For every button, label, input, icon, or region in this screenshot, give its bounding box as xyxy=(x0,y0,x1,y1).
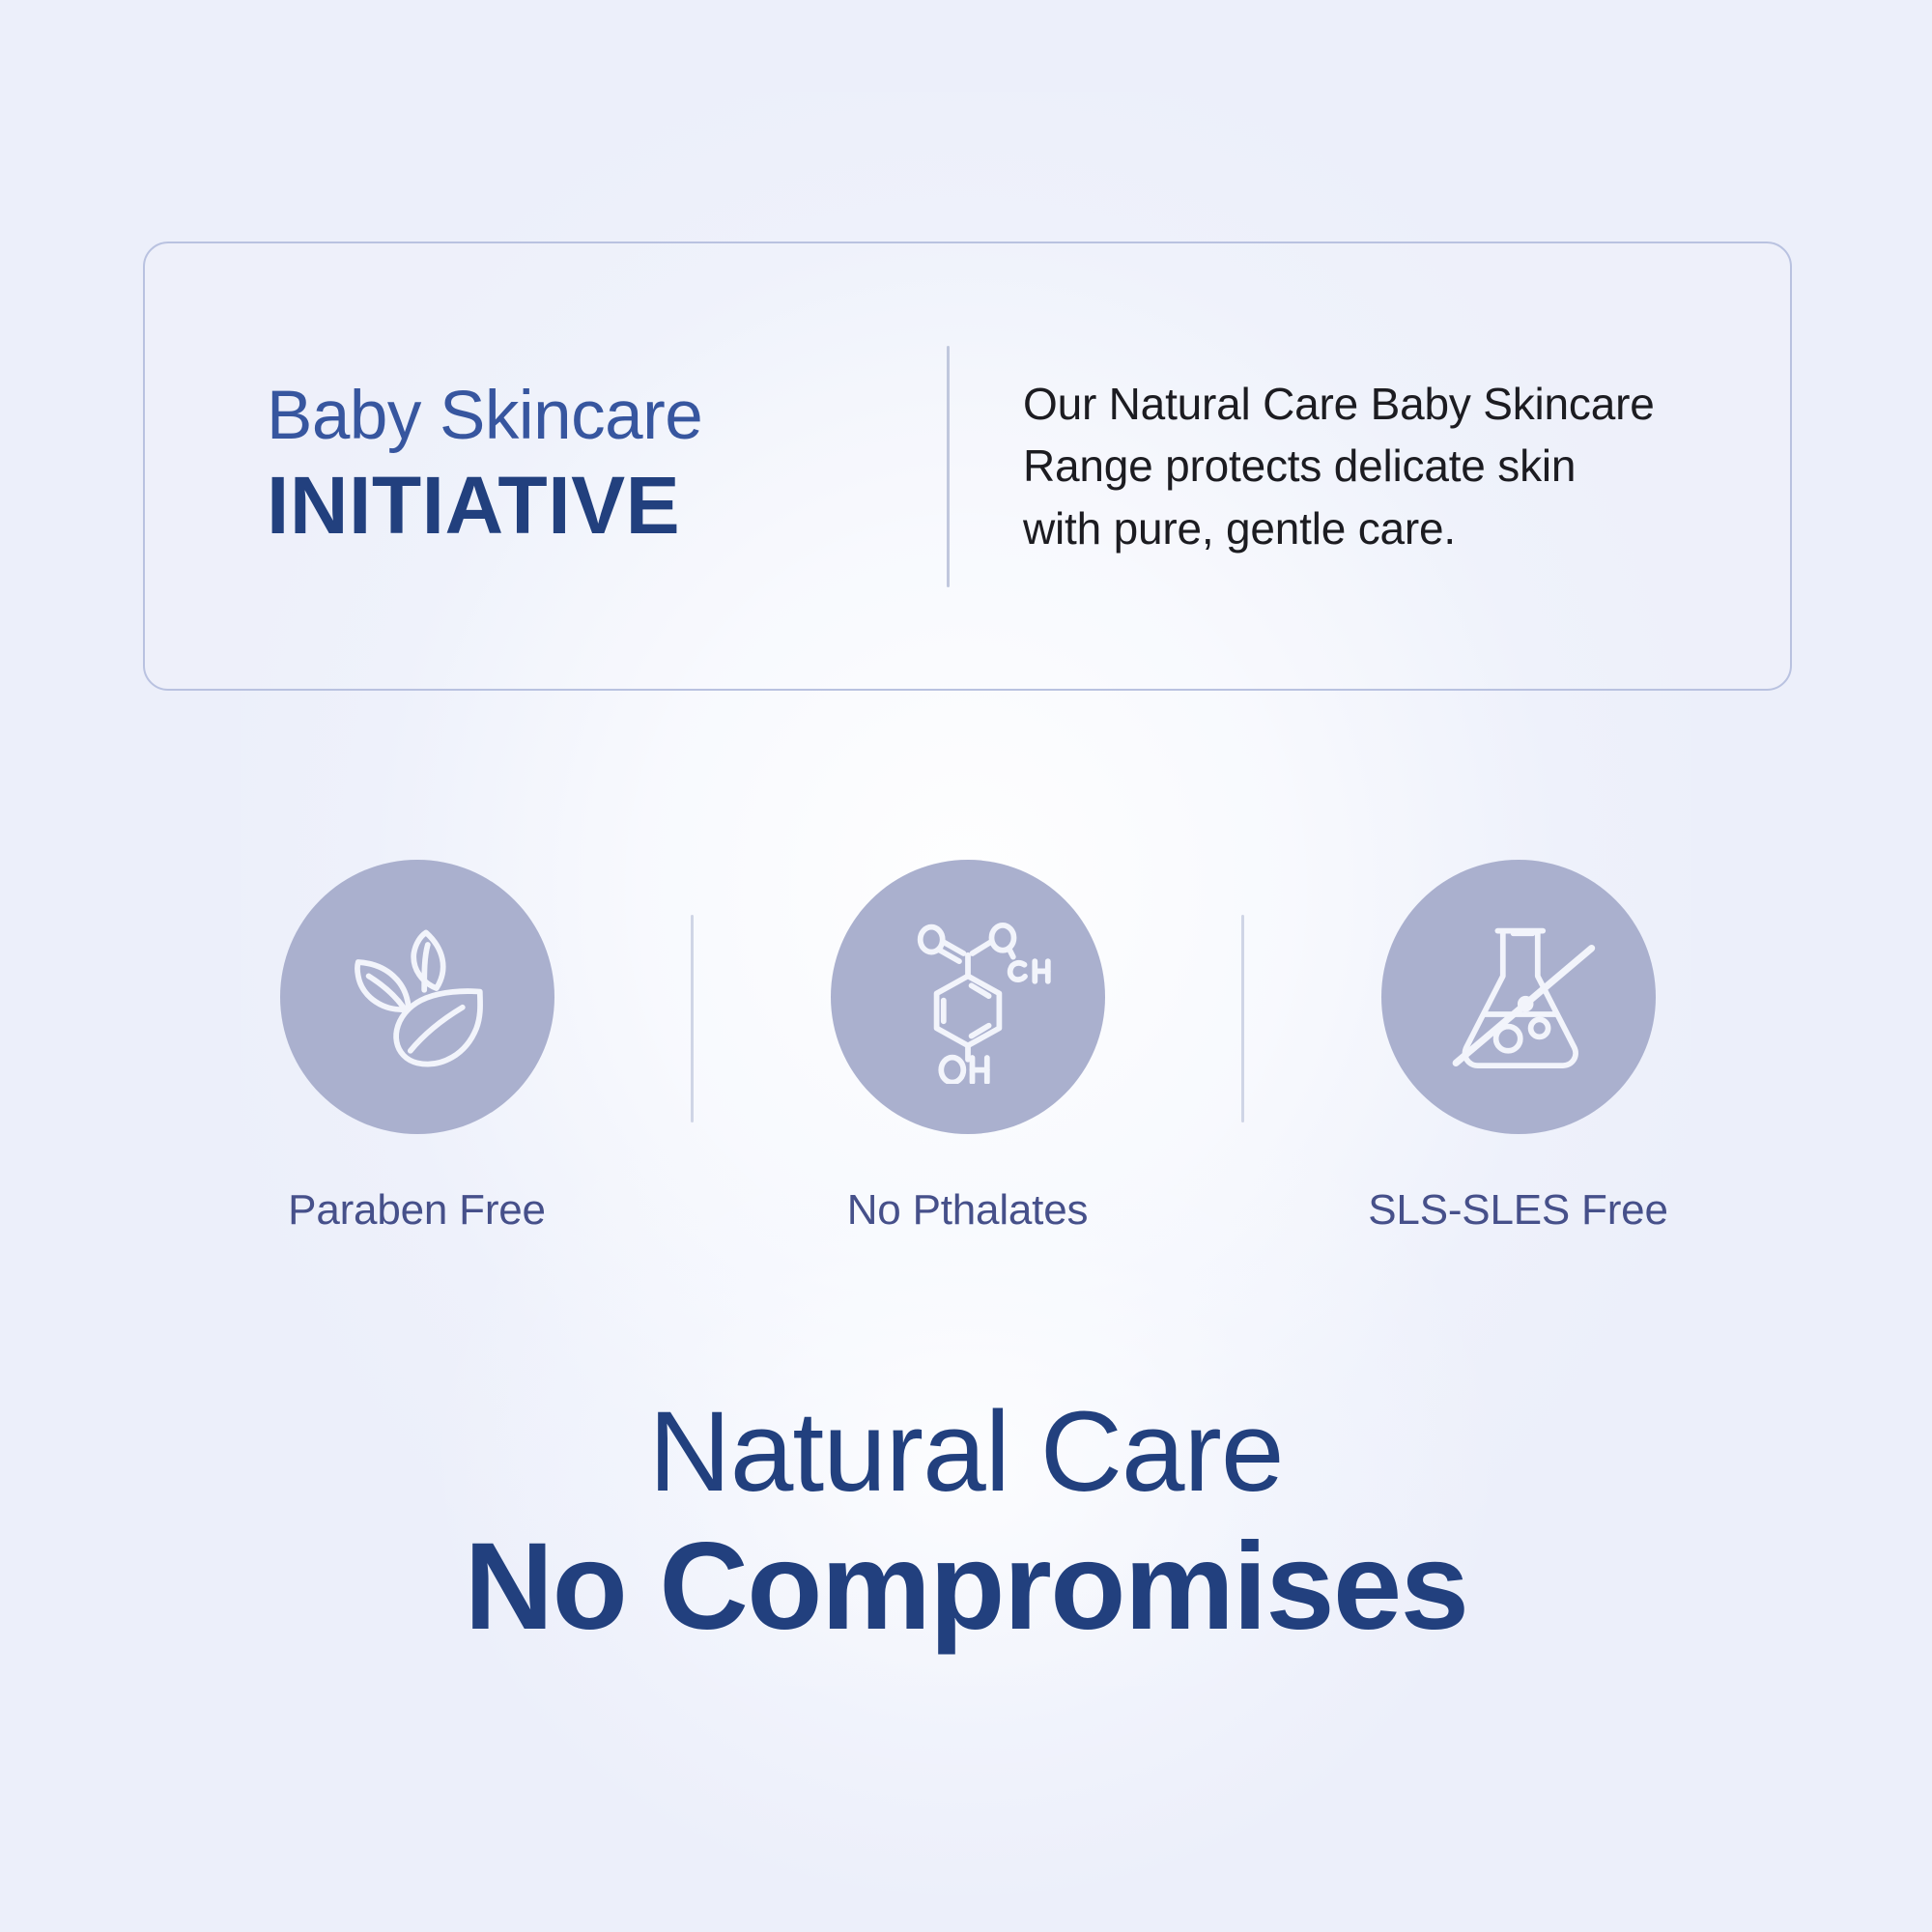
initiative-card: Baby Skincare INITIATIVE Our Natural Car… xyxy=(143,241,1792,691)
card-kicker: Baby Skincare xyxy=(267,382,947,450)
leaves-icon xyxy=(330,910,504,1084)
molecule-icon xyxy=(881,910,1055,1084)
card-description-block: Our Natural Care Baby Skincare Range pro… xyxy=(950,373,1693,559)
claim-no-pthalates: No Pthalates xyxy=(694,860,1241,1235)
claims-row: Paraben Free xyxy=(143,860,1792,1235)
claim-sls-sles-free: SLS-SLES Free xyxy=(1244,860,1792,1235)
poster-canvas: Baby Skincare INITIATIVE Our Natural Car… xyxy=(0,0,1932,1932)
claim-paraben-free: Paraben Free xyxy=(143,860,691,1235)
claim-icon-circle xyxy=(1381,860,1656,1134)
flask-no-icon xyxy=(1432,910,1605,1084)
claim-label: No Pthalates xyxy=(847,1186,1089,1235)
claim-label: Paraben Free xyxy=(288,1186,546,1235)
closing-headline-line1: Natural Care xyxy=(0,1391,1932,1514)
card-description-line: with pure, gentle care. xyxy=(1023,497,1655,559)
card-title: INITIATIVE xyxy=(267,460,947,551)
claim-label: SLS-SLES Free xyxy=(1368,1186,1667,1235)
claim-icon-circle xyxy=(280,860,554,1134)
card-description: Our Natural Care Baby Skincare Range pro… xyxy=(1023,373,1655,559)
card-description-line: Our Natural Care Baby Skincare xyxy=(1023,373,1655,435)
card-heading-block: Baby Skincare INITIATIVE xyxy=(145,382,947,551)
card-description-line: Range protects delicate skin xyxy=(1023,435,1655,497)
closing-headline-line2: No Compromises xyxy=(0,1520,1932,1656)
claim-icon-circle xyxy=(831,860,1105,1134)
closing-headline: Natural Care No Compromises xyxy=(0,1391,1932,1656)
